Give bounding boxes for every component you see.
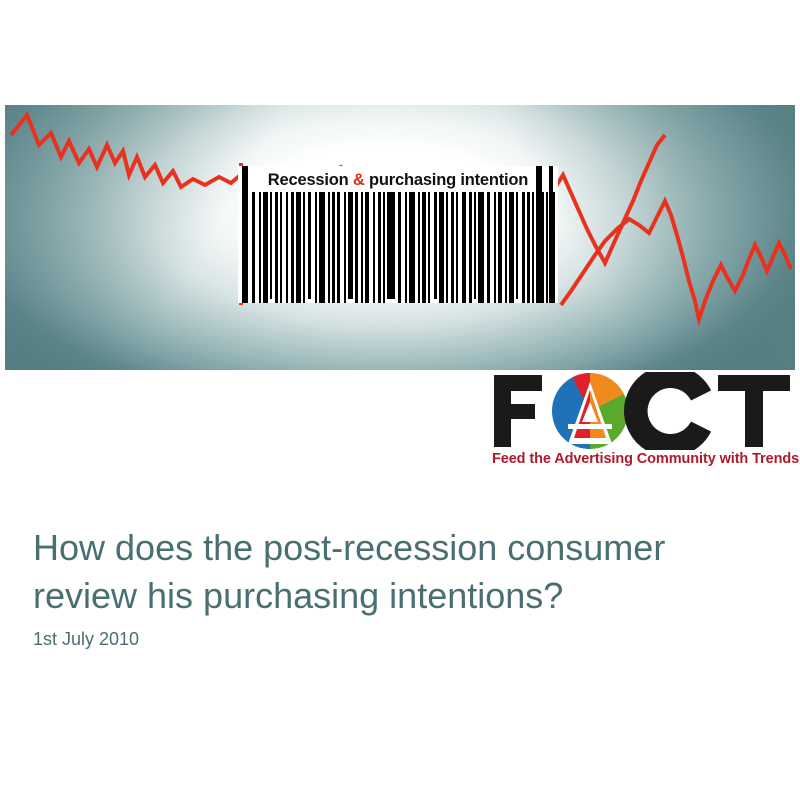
fact-logo: Feed the Advertising Community with Tren… (492, 372, 792, 477)
barcode-bar (378, 192, 381, 303)
barcode-bar (537, 192, 544, 303)
barcode-bar (332, 192, 335, 303)
barcode-bar (422, 192, 426, 303)
barcode-bar (451, 192, 454, 303)
barcode-graphic: Recession & purchasing intention (238, 166, 558, 303)
letter-a-crossbar-gap (568, 424, 612, 429)
barcode-bar (532, 192, 534, 303)
page-date: 1st July 2010 (33, 629, 139, 650)
barcode-bar (365, 192, 369, 303)
fact-logo-svg (492, 372, 792, 450)
barcode-bar (494, 192, 496, 303)
barcode-bar (319, 192, 325, 303)
fact-logo-mark (492, 372, 792, 450)
fact-logo-tagline: Feed the Advertising Community with Tren… (492, 451, 792, 467)
barcode-title-prefix: Recession (268, 171, 353, 189)
barcode-bar (296, 192, 301, 303)
barcode-bar (355, 192, 358, 303)
barcode-bar (509, 192, 514, 303)
barcode-bar (409, 192, 415, 303)
page-title: How does the post-recession consumer rev… (33, 524, 763, 620)
barcode-bar (328, 192, 330, 303)
barcode-bar (263, 192, 268, 303)
barcode-bar (252, 192, 255, 303)
barcode-bar (383, 192, 385, 303)
barcode-bar (259, 192, 261, 303)
barcode-bar (418, 192, 420, 303)
barcode-bar (315, 192, 317, 303)
barcode-bar (446, 192, 448, 303)
trend-line-right (561, 201, 791, 319)
barcode-bar (275, 192, 278, 303)
barcode-bar (337, 192, 340, 303)
barcode-bar (373, 192, 375, 303)
barcode-bar (487, 192, 490, 303)
barcode-bars (238, 192, 558, 303)
barcode-bar (552, 192, 555, 303)
barcode-bar (439, 192, 444, 303)
barcode-bar (344, 192, 346, 303)
fact-letter-a-disc (552, 373, 628, 449)
barcode-bar (405, 192, 407, 303)
barcode-bar (280, 192, 282, 303)
barcode-bar (522, 192, 525, 303)
barcode-bar (546, 192, 548, 303)
barcode-bar (527, 192, 530, 303)
barcode-bar (516, 192, 518, 299)
barcode-bar (474, 192, 476, 299)
barcode-bar (398, 192, 401, 303)
barcode-bar (286, 192, 288, 303)
fact-letter-f (494, 375, 542, 447)
fact-letter-t (718, 375, 790, 447)
barcode-bar (478, 192, 484, 303)
barcode-bar (462, 192, 466, 303)
barcode-bar (456, 192, 458, 303)
barcode-bar (428, 192, 430, 303)
barcode-bar (361, 192, 363, 303)
barcode-bar (308, 192, 311, 299)
page-title-line-2: review his purchasing intentions? (33, 572, 763, 620)
barcode-bar (303, 192, 305, 303)
fact-letter-c (632, 373, 716, 449)
barcode-bar (387, 192, 395, 299)
barcode-bar (434, 192, 437, 299)
barcode-title-ampersand: & (353, 171, 365, 189)
barcode-bar (505, 192, 507, 303)
barcode-bar (498, 192, 502, 303)
page-title-line-1: How does the post-recession consumer (33, 524, 763, 572)
barcode-title: Recession & purchasing intention (238, 171, 558, 190)
barcode-bar (291, 192, 294, 303)
barcode-bar (469, 192, 472, 303)
barcode-bar (270, 192, 272, 299)
barcode-title-suffix: purchasing intention (365, 171, 529, 189)
barcode-bar (348, 192, 353, 299)
